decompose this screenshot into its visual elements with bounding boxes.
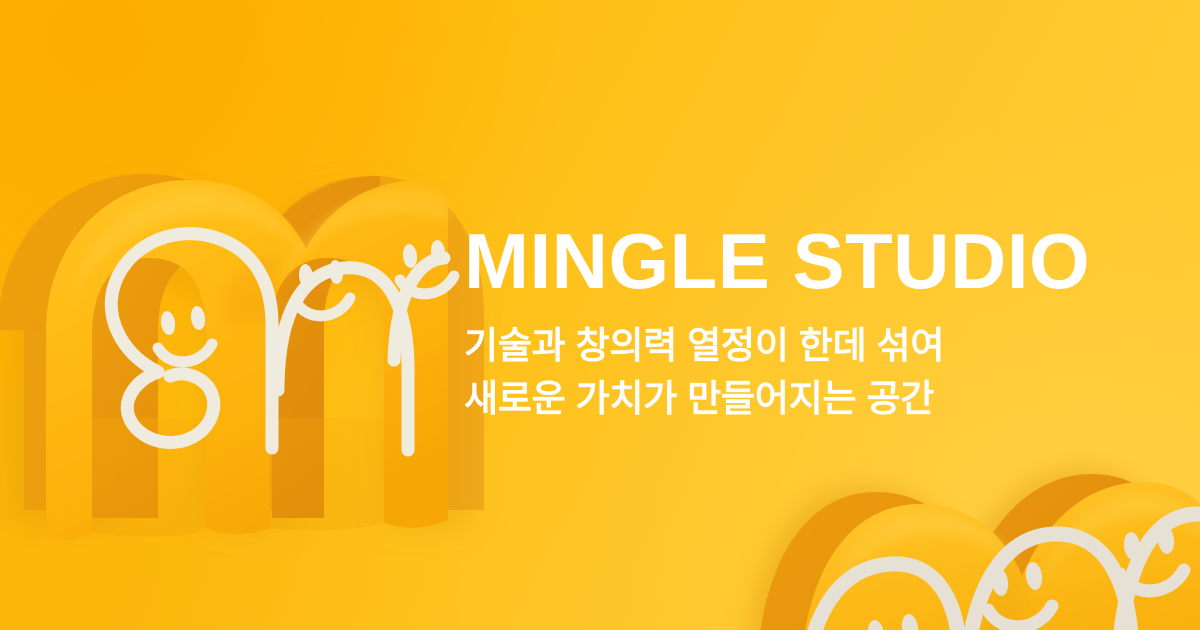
page-title: MINGLE STUDIO xyxy=(464,222,1184,300)
logo-left-smiley-1 xyxy=(158,305,212,362)
banner-text-block: MINGLE STUDIO 기술과 창의력 열정이 한데 섞여 새로운 가치가 … xyxy=(464,222,1184,425)
mingle-m-logo-left xyxy=(0,118,442,538)
subtitle-line-1: 기술과 창의력 열정이 한데 섞여 xyxy=(464,320,1184,373)
subtitle-line-2: 새로운 가치가 만들어지는 공간 xyxy=(464,373,1184,426)
mingle-studio-banner: MINGLE STUDIO 기술과 창의력 열정이 한데 섞여 새로운 가치가 … xyxy=(0,0,1200,630)
mingle-m-logo-bottom-right xyxy=(726,396,1200,630)
banner-subtitle: 기술과 창의력 열정이 한데 섞여 새로운 가치가 만들어지는 공간 xyxy=(464,320,1184,425)
